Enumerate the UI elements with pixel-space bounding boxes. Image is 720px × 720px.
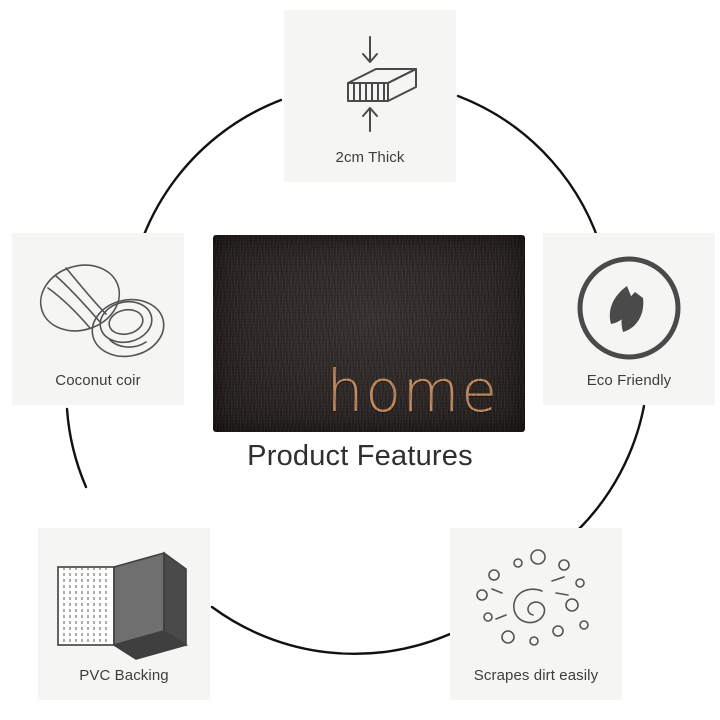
dirt-swirl-icon [450,528,622,668]
feature-label-scrapes: Scrapes dirt easily [474,668,598,701]
feature-card-pvc[interactable]: PVC Backing [38,528,210,700]
feature-label-pvc: PVC Backing [79,668,168,701]
product-image-doormat: home [213,235,525,432]
page-title: Product Features [0,440,720,473]
feature-card-thickness[interactable]: 2cm Thick [284,10,456,182]
product-features-diagram: 2cm Thick Eco Friendly [0,0,720,720]
feature-card-eco[interactable]: Eco Friendly [543,233,715,405]
pvc-backing-icon [38,528,210,668]
slab-thickness-icon [284,10,456,150]
feature-label-coconut: Coconut coir [55,373,140,406]
coconut-icon [12,233,184,373]
feature-card-scrapes[interactable]: Scrapes dirt easily [450,528,622,700]
feature-label-eco: Eco Friendly [587,373,672,406]
feature-label-thickness: 2cm Thick [336,150,405,183]
doormat-surface: home [213,235,525,432]
leaf-circle-icon [543,233,715,373]
feature-card-coconut[interactable]: Coconut coir [12,233,184,405]
doormat-text: home [327,362,499,420]
